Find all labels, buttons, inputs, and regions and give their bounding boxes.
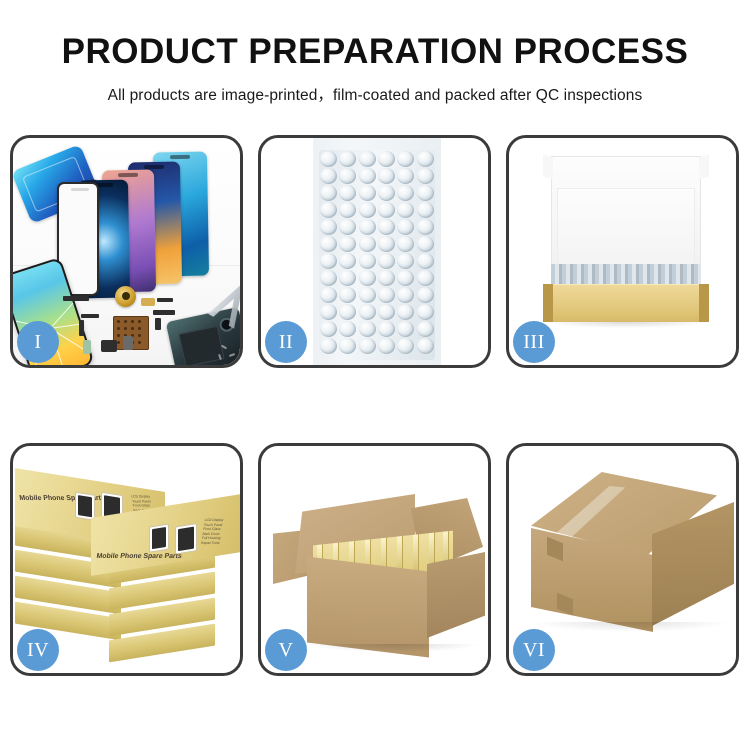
carton-shadow (309, 644, 479, 652)
spare-components-group (61, 284, 240, 365)
step-badge-5: V (265, 629, 307, 671)
page-subtitle: All products are image-printed，film-coat… (0, 83, 750, 105)
carton-shadow (531, 622, 731, 632)
notch-icon (144, 165, 164, 169)
page-title: PRODUCT PREPARATION PROCESS (0, 34, 750, 71)
header: PRODUCT PREPARATION PROCESS All products… (0, 0, 750, 105)
screen-thumb-icon (75, 492, 95, 521)
battery-icon (178, 326, 224, 365)
antenna-cable-icon (153, 310, 175, 315)
step-panel-6: VI (506, 443, 739, 676)
step-panel-4: Mobile Phone Spare Parts LCD Display Tou… (10, 443, 243, 676)
connector-icon (81, 314, 99, 318)
step-badge-6: VI (513, 629, 555, 671)
screen-thumb-icon (149, 524, 169, 553)
kraft-box-base (543, 284, 709, 322)
battery-cell-icon (83, 340, 91, 354)
step-badge-1: I (17, 321, 59, 363)
carton-front-face (307, 557, 429, 658)
process-steps-grid: 08:08 (10, 135, 741, 676)
screen-thumb-icon (175, 523, 197, 554)
step-panel-5: V (258, 443, 491, 676)
notch-icon (170, 155, 190, 159)
retail-box-checklist: LCD Display Touch Panel Front Glass Back… (201, 518, 224, 546)
bracket-icon (155, 318, 161, 330)
gold-contact-icon (141, 298, 155, 306)
product-preparation-infographic: PRODUCT PREPARATION PROCESS All products… (0, 0, 750, 750)
foam-sheet (557, 188, 695, 266)
step-panel-2: II (258, 135, 491, 368)
carton-right-face (427, 552, 485, 638)
flex-cable-icon (63, 296, 89, 301)
flex-cable-icon (157, 298, 173, 302)
notch-icon (118, 173, 138, 177)
step-badge-3: III (513, 321, 555, 363)
step-panel-1: 08:08 (10, 135, 243, 368)
bracket-icon (79, 320, 84, 336)
box-shadow (545, 322, 707, 328)
step-badge-4: IV (17, 629, 59, 671)
vibrator-icon (101, 340, 117, 352)
bubble-grid (319, 150, 435, 360)
retail-box-brand-label: Mobile Phone Spare Parts (96, 553, 182, 560)
step-panel-3: III (506, 135, 739, 368)
speaker-coil-icon (115, 286, 136, 307)
step-badge-2: II (265, 321, 307, 363)
camera-module-icon (123, 336, 133, 350)
